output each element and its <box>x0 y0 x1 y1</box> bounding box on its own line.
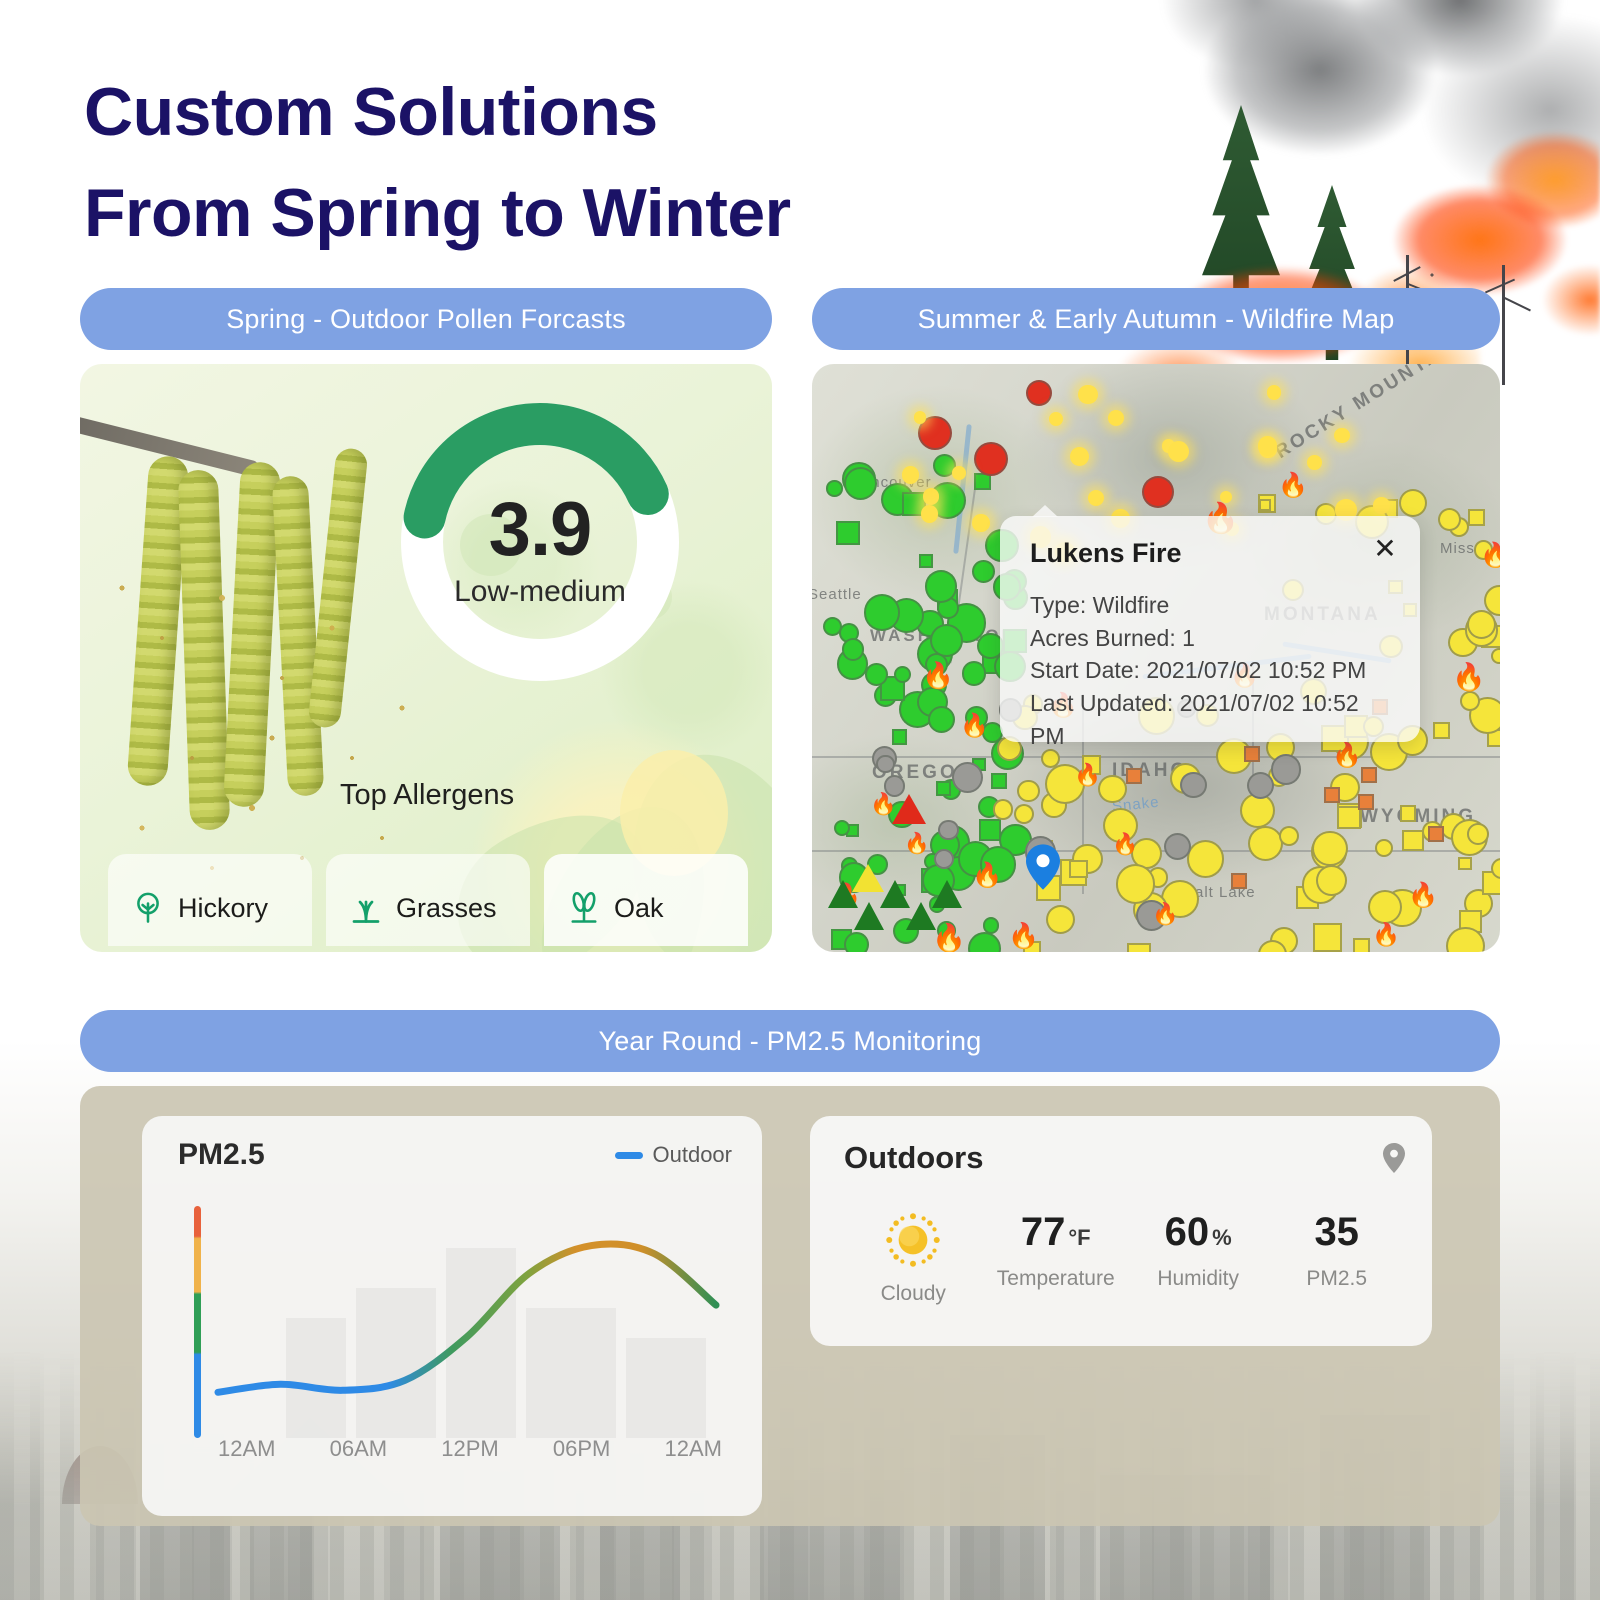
map-marker-dot[interactable] <box>983 917 999 933</box>
map-marker-glow[interactable] <box>914 411 926 423</box>
legend-swatch-outdoor <box>615 1152 643 1159</box>
map-marker-dot[interactable] <box>1026 380 1052 406</box>
tree-icon <box>130 890 166 926</box>
x-tick: 12AM <box>218 1436 275 1462</box>
map-marker-dot[interactable] <box>1368 890 1402 924</box>
allergen-list: Hickory Grasses Oak <box>108 854 748 946</box>
chart-x-axis-ticks: 12AM 06AM 12PM 06PM 12AM <box>166 1436 752 1462</box>
allergen-label: Grasses <box>396 893 497 924</box>
fire-popup-start-date: Start Date: 2021/07/02 10:52 PM <box>1030 654 1394 687</box>
map-marker-square[interactable] <box>1313 923 1342 952</box>
map-marker-dot[interactable] <box>938 820 958 840</box>
metric-label: Cloudy <box>881 1282 946 1306</box>
map-marker-square[interactable] <box>979 819 1001 841</box>
legend-label-outdoor: Outdoor <box>653 1142 733 1168</box>
allergen-item-hickory[interactable]: Hickory <box>108 854 312 946</box>
pollen-index-level: Low-medium <box>454 575 626 609</box>
map-marker-dot[interactable] <box>1491 648 1500 664</box>
x-tick: 12AM <box>665 1436 722 1462</box>
map-marker-square[interactable] <box>1402 830 1424 852</box>
map-marker-dot[interactable] <box>1460 691 1480 711</box>
map-marker-square[interactable] <box>1337 806 1361 830</box>
map-marker-square[interactable] <box>1231 873 1247 889</box>
pm25-chart-card: PM2.5 Outdoor <box>142 1116 762 1516</box>
x-tick: 12PM <box>441 1436 498 1462</box>
close-icon[interactable]: ✕ <box>1370 534 1400 564</box>
map-marker-square[interactable] <box>991 773 1007 789</box>
allergen-item-grasses[interactable]: Grasses <box>326 854 530 946</box>
fire-popup-title: Lukens Fire <box>1030 538 1394 569</box>
wildfire-flame-icon[interactable]: 🔥 <box>1112 834 1138 855</box>
map-marker-glow[interactable] <box>1108 410 1124 426</box>
pollen-index-gauge: 3.9 Low-medium <box>380 382 700 702</box>
map-pin-icon[interactable] <box>1382 1143 1406 1173</box>
map-marker-dot[interactable] <box>952 762 983 793</box>
wildfire-map-card[interactable]: ROCKY MOUNTAINS Vancouver Seattle WASHIN… <box>812 364 1500 952</box>
map-marker-glow[interactable] <box>1334 428 1350 444</box>
metric-label: PM2.5 <box>1306 1267 1367 1291</box>
map-marker-dot[interactable] <box>1312 831 1347 866</box>
map-marker-glow[interactable] <box>1307 455 1322 470</box>
wildfire-flame-icon[interactable]: 🔥 <box>922 664 954 690</box>
map-marker-dot[interactable] <box>1180 772 1207 799</box>
fire-popup-last-updated: Last Updated: 2021/07/02 10:52 PM <box>1030 687 1394 752</box>
map-marker-square[interactable] <box>1358 794 1374 810</box>
chart-title: PM2.5 <box>178 1138 265 1172</box>
map-marker-dot[interactable] <box>1399 489 1427 517</box>
map-marker-dot[interactable] <box>1014 804 1034 824</box>
outdoors-header: Outdoors <box>844 1140 1406 1176</box>
map-marker-dot[interactable] <box>930 624 963 657</box>
map-marker-glow[interactable] <box>1267 385 1281 399</box>
fire-detail-popup[interactable]: Lukens Fire Type: Wildfire Acres Burned:… <box>1000 516 1420 742</box>
wildfire-flame-icon[interactable]: 🔥 <box>1408 884 1438 908</box>
map-marker-dot[interactable] <box>865 663 888 686</box>
outdoors-title: Outdoors <box>844 1140 984 1176</box>
map-marker-glow[interactable] <box>1078 385 1097 404</box>
map-marker-dot[interactable] <box>993 799 1013 819</box>
map-marker-dot[interactable] <box>844 932 869 952</box>
pm25-line-chart <box>166 1188 738 1438</box>
map-marker-square[interactable] <box>1127 943 1151 952</box>
metric-value: 77 <box>1021 1210 1066 1255</box>
wildfire-flame-icon[interactable]: 🔥 <box>1452 664 1485 691</box>
map-marker-dot[interactable] <box>826 480 842 496</box>
x-tick: 06AM <box>330 1436 387 1462</box>
map-marker-dot[interactable] <box>1247 772 1274 799</box>
wildfire-flame-icon[interactable]: 🔥 <box>1152 904 1178 925</box>
map-marker-glow[interactable] <box>1049 412 1063 426</box>
map-marker-glow[interactable] <box>902 466 920 484</box>
wildfire-flame-icon[interactable]: 🔥 <box>960 714 989 737</box>
section-header-year-round: Year Round - PM2.5 Monitoring <box>80 1010 1500 1072</box>
map-marker-square[interactable] <box>936 781 951 796</box>
map-marker-dot[interactable] <box>844 467 877 500</box>
wildfire-flame-icon[interactable]: 🔥 <box>972 864 1002 888</box>
map-marker-dot[interactable] <box>925 570 957 602</box>
metric-unit: °F <box>1068 1225 1090 1251</box>
map-marker-glow[interactable] <box>952 466 965 479</box>
metric-temperature: 77 °F Temperature <box>997 1210 1115 1291</box>
wildfire-flame-icon[interactable]: 🔥 <box>932 924 966 951</box>
section-header-summer: Summer & Early Autumn - Wildfire Map <box>812 288 1500 350</box>
fire-popup-type: Type: Wildfire <box>1030 589 1394 622</box>
map-marker-dot[interactable] <box>1046 905 1075 934</box>
chart-skyline-watermark <box>286 1248 706 1438</box>
map-marker-square[interactable] <box>1361 767 1377 783</box>
metric-weather: Cloudy <box>858 1210 968 1306</box>
aqi-color-scale-bar <box>194 1206 201 1438</box>
map-marker-square[interactable] <box>892 729 907 744</box>
map-pin-icon[interactable] <box>1026 844 1060 890</box>
chart-legend: Outdoor <box>615 1142 733 1168</box>
oak-leaf-icon <box>566 890 602 926</box>
metric-label: Temperature <box>997 1267 1115 1291</box>
metric-humidity: 60 % Humidity <box>1143 1210 1253 1291</box>
map-marker-dot[interactable] <box>1467 610 1496 639</box>
pm25-monitoring-panel: PM2.5 Outdoor <box>80 1086 1500 1526</box>
map-marker-dot[interactable] <box>1375 839 1393 857</box>
map-marker-dot[interactable] <box>928 706 955 733</box>
wildfire-flame-icon[interactable]: 🔥 <box>1480 544 1500 568</box>
map-marker-square[interactable] <box>836 521 860 545</box>
metric-value: 35 <box>1314 1210 1359 1255</box>
map-marker-dot[interactable] <box>1116 864 1156 904</box>
map-marker-dot[interactable] <box>1279 826 1299 846</box>
outdoors-summary-card: Outdoors <box>810 1116 1432 1346</box>
map-marker-glow[interactable] <box>923 488 939 504</box>
map-marker-glow[interactable] <box>1168 441 1189 462</box>
map-marker-square[interactable] <box>1353 938 1371 952</box>
map-marker-square[interactable] <box>1468 509 1485 526</box>
metric-unit: % <box>1212 1225 1232 1251</box>
chart-header: PM2.5 Outdoor <box>178 1138 732 1172</box>
allergen-label: Oak <box>614 893 664 924</box>
smoke-plume <box>1160 0 1600 320</box>
map-marker-dot[interactable] <box>1316 865 1347 896</box>
map-marker-dot[interactable] <box>1187 840 1225 878</box>
map-marker-dot[interactable] <box>842 638 865 661</box>
map-marker-dot[interactable] <box>864 594 900 630</box>
map-marker-square[interactable] <box>1400 805 1417 822</box>
wildfire-flame-icon[interactable]: 🔥 <box>904 834 929 854</box>
map-marker-dot[interactable] <box>974 442 1008 476</box>
wildfire-flame-icon[interactable]: 🔥 <box>1074 764 1101 786</box>
map-marker-dot[interactable] <box>1142 476 1174 508</box>
pollen-forecast-card: 3.9 Low-medium Top Allergens Hickory Gra… <box>80 364 772 952</box>
wildfire-flame-icon[interactable]: 🔥 <box>1372 924 1400 946</box>
metric-label: Humidity <box>1157 1267 1239 1291</box>
allergen-item-oak[interactable]: Oak <box>544 854 748 946</box>
top-allergens-heading: Top Allergens <box>340 779 514 812</box>
map-marker-square[interactable] <box>1428 826 1444 842</box>
map-marker-square[interactable] <box>1433 722 1450 739</box>
pollen-index-value: 3.9 <box>489 486 592 573</box>
page-title: Custom Solutions From Spring to Winter <box>84 62 791 263</box>
map-marker-square[interactable] <box>1126 768 1142 784</box>
x-tick: 06PM <box>553 1436 610 1462</box>
wildfire-flame-icon[interactable]: 🔥 <box>1008 924 1039 949</box>
map-marker-glow[interactable] <box>972 514 990 532</box>
map-marker-square[interactable] <box>1324 787 1340 803</box>
map-marker-triangle-red[interactable] <box>892 794 926 824</box>
map-marker-square[interactable] <box>1069 860 1087 878</box>
allergen-label: Hickory <box>178 893 268 924</box>
map-marker-dot[interactable] <box>1017 780 1040 803</box>
map-marker-glow[interactable] <box>1258 436 1278 456</box>
metric-pm25: 35 PM2.5 <box>1282 1210 1392 1291</box>
map-marker-dot[interactable] <box>1467 823 1489 845</box>
map-marker-glow[interactable] <box>1373 497 1390 514</box>
map-marker-square[interactable] <box>919 554 933 568</box>
map-marker-square[interactable] <box>1458 857 1472 871</box>
grass-icon <box>348 890 384 926</box>
map-marker-dot[interactable] <box>972 560 995 583</box>
sun-icon <box>883 1210 943 1270</box>
map-marker-triangle-green[interactable] <box>932 880 962 908</box>
outdoors-metrics: Cloudy 77 °F Temperature 60 % Humidity 3… <box>844 1210 1406 1306</box>
map-marker-dot[interactable] <box>1098 775 1126 803</box>
metric-value: 60 <box>1165 1210 1210 1255</box>
map-marker-square[interactable] <box>1259 499 1271 511</box>
fire-popup-acres: Acres Burned: 1 <box>1030 622 1394 655</box>
fire-popup-details: Type: Wildfire Acres Burned: 1 Start Dat… <box>1030 589 1394 752</box>
wildfire-flame-icon[interactable]: 🔥 <box>1278 474 1308 498</box>
section-header-spring: Spring - Outdoor Pollen Forcasts <box>80 288 772 350</box>
